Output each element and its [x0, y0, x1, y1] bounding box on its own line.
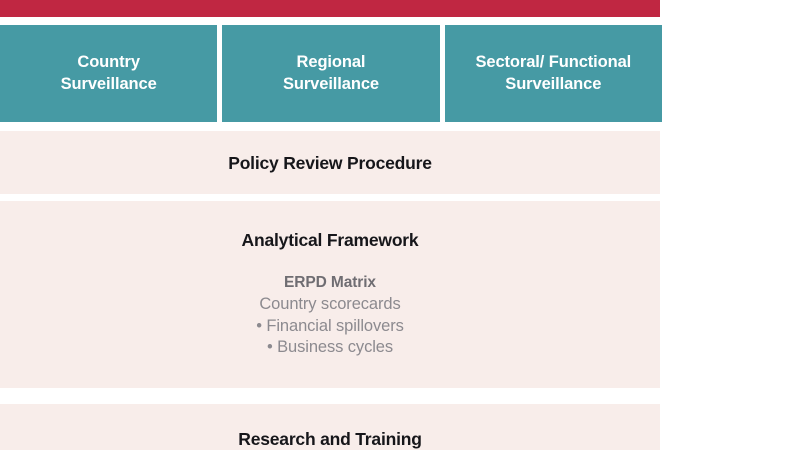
erpd-matrix-item-country-scorecards: Country scorecards: [256, 294, 404, 316]
surveillance-box-sectoral-functional[interactable]: Sectoral/ Functional Surveillance: [445, 25, 662, 122]
top-accent-bar: [0, 0, 660, 17]
band-policy-review-procedure[interactable]: Policy Review Procedure: [0, 131, 660, 194]
surveillance-box-regional-label: Regional Surveillance: [275, 52, 387, 96]
surveillance-box-regional-line1: Regional: [297, 53, 366, 71]
erpd-matrix-title: ERPD Matrix: [256, 273, 404, 294]
surveillance-box-country[interactable]: Country Surveillance: [0, 25, 217, 122]
band-research-and-training-title: Research and Training: [238, 429, 422, 450]
erpd-matrix-item-business-cycles: • Business cycles: [256, 337, 404, 359]
surveillance-box-sectoral-functional-line2: Surveillance: [505, 75, 601, 93]
band-analytical-framework[interactable]: Analytical Framework ERPD Matrix Country…: [0, 201, 660, 388]
surveillance-box-regional-line2: Surveillance: [283, 75, 379, 93]
band-analytical-framework-title: Analytical Framework: [242, 230, 419, 251]
band-policy-review-procedure-title: Policy Review Procedure: [228, 153, 432, 174]
surveillance-box-sectoral-functional-label: Sectoral/ Functional Surveillance: [467, 52, 639, 96]
surveillance-box-sectoral-functional-line1: Sectoral/ Functional: [475, 53, 631, 71]
erpd-matrix-item-financial-spillovers: • Financial spillovers: [256, 316, 404, 338]
surveillance-box-row: Country Surveillance Regional Surveillan…: [0, 25, 662, 122]
surveillance-box-country-label: Country Surveillance: [53, 52, 165, 96]
band-research-and-training[interactable]: Research and Training: [0, 404, 660, 450]
surveillance-framework-diagram: Country Surveillance Regional Surveillan…: [0, 0, 800, 450]
surveillance-box-regional[interactable]: Regional Surveillance: [222, 25, 439, 122]
erpd-matrix-block: ERPD Matrix Country scorecards • Financi…: [256, 273, 404, 359]
surveillance-box-country-line2: Surveillance: [61, 75, 157, 93]
surveillance-box-country-line1: Country: [77, 53, 140, 71]
